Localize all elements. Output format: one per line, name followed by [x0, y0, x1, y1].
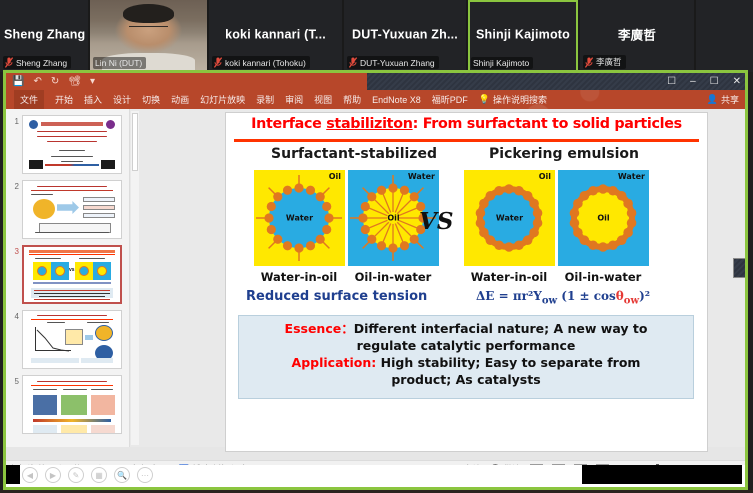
thumbnail-number: 5	[9, 375, 19, 386]
video-tile-4[interactable]: DUT-Yuxuan Zh...DUT-Yuxuan Zhang	[344, 0, 466, 72]
panel-outer-phase-label: Water	[408, 172, 435, 181]
reduced-tension-label: Reduced surface tension	[246, 289, 427, 304]
ribbon-tab-3[interactable]: 插入	[84, 93, 102, 106]
floating-toolbar-overlay[interactable]	[733, 258, 748, 278]
panel-outer-phase-label: Water	[618, 172, 645, 181]
ribbon-tab-bar: 文件开始插入设计切换动画幻灯片放映录制审阅视图帮助EndNote X8福昕PDF…	[6, 90, 745, 109]
thumbnail-number: 2	[9, 180, 19, 191]
interfacial-energy-formula: ΔE = πr²Υow (1 ± cosθow)²	[476, 289, 650, 306]
thumbnail-row-1[interactable]: 1	[6, 113, 129, 178]
video-tile-5[interactable]: Shinji KajimotoShinji Kajimoto	[468, 0, 578, 72]
formula-mid: (1 ± cos	[557, 289, 616, 303]
participant-name-badge: Shinji Kajimoto	[471, 57, 533, 69]
lightbulb-icon: 💡	[479, 94, 490, 105]
formula-gamma: Υow	[533, 289, 557, 303]
participant-name-label: Shinji Kajimoto	[473, 58, 529, 68]
ribbon-tab-12[interactable]: EndNote X8	[372, 95, 421, 105]
powerpoint-window: 💾 ↶ ↻ 📽 ▾ ☐ – ☐ ✕ 文件开始插入设计切换动画幻灯片放映录制审阅视…	[3, 70, 748, 480]
participant-name-label: Sheng Zhang	[16, 58, 67, 68]
current-slide[interactable]: Interface stabiliziton: From surfactant …	[226, 113, 707, 451]
essence-application-box: Essence：Different interfacial nature; A …	[238, 315, 694, 399]
mic-muted-icon	[349, 57, 357, 68]
thumbnail-row-5[interactable]: 5	[6, 373, 129, 438]
scrollbar-thumb[interactable]	[132, 113, 138, 171]
panel-outer-phase-label: Oil	[539, 172, 551, 181]
customize-icon[interactable]: ▾	[90, 77, 95, 87]
thumbnail-row-2[interactable]: 2	[6, 178, 129, 243]
slide-thumbnail-5[interactable]	[22, 375, 122, 434]
mic-muted-icon	[585, 57, 593, 68]
emulsion-sublabel-4: Oil-in-water	[553, 270, 653, 284]
present-icon[interactable]: 📽	[68, 77, 81, 87]
emulsion-sublabel-2: Oil-in-water	[343, 270, 443, 284]
essence-text-1: Different interfacial nature; A new way …	[354, 321, 648, 336]
bottom-right-black-panel	[582, 465, 742, 484]
share-button[interactable]: 👤 共享	[707, 93, 739, 106]
video-tile-1[interactable]: Sheng ZhangSheng Zhang	[0, 0, 88, 72]
share-label: 共享	[721, 93, 739, 106]
quick-access-toolbar: 💾 ↶ ↻ 📽 ▾ ☐ – ☐ ✕	[6, 73, 745, 90]
ribbon-tab-13[interactable]: 福昕PDF	[432, 93, 468, 106]
participant-display-name: Shinji Kajimoto	[468, 28, 578, 42]
slide-editing-pane: Interface stabiliziton: From surfactant …	[130, 109, 745, 447]
thumbnail-row-3[interactable]: 3vs	[6, 243, 129, 308]
share-person-icon: 👤	[707, 94, 718, 105]
ribbon-tab-6[interactable]: 动画	[171, 93, 189, 106]
essence-line-1: Essence：Different interfacial nature; A …	[247, 320, 685, 337]
undo-icon[interactable]: ↶	[33, 77, 41, 87]
ribbon-tab-5[interactable]: 切换	[142, 93, 160, 106]
formula-lhs: ΔE = πr²	[476, 289, 533, 303]
zoom-video-strip: Sheng ZhangSheng ZhangLin Ni (DUT)koki k…	[0, 0, 753, 72]
tell-me-search[interactable]: 💡操作说明搜索	[479, 93, 547, 106]
restore-icon[interactable]: ☐	[710, 76, 719, 87]
ribbon-tab-2[interactable]: 开始	[55, 93, 73, 106]
participant-display-name: DUT-Yuxuan Zh...	[344, 28, 466, 42]
panel-inner-phase-label: Oil	[558, 214, 649, 223]
panel-inner-phase-label: Water	[464, 214, 555, 223]
pen-icon[interactable]: ✎	[68, 467, 84, 483]
emulsion-panel-pick-oil-in-water: WaterOil	[558, 170, 649, 266]
essence-label: Essence：	[285, 321, 354, 336]
slide-thumbnail-pane[interactable]: 123vs45	[6, 109, 130, 447]
ribbon-tab-11[interactable]: 帮助	[343, 93, 361, 106]
emulsion-sublabel-3: Water-in-oil	[459, 270, 559, 284]
emulsion-sublabel-1: Water-in-oil	[249, 270, 349, 284]
thumbnail-row-4[interactable]: 4	[6, 308, 129, 373]
ribbon-tab-9[interactable]: 审阅	[285, 93, 303, 106]
minimize-icon[interactable]: –	[690, 76, 696, 87]
emulsion-panel-surf-oil-in-water: WaterOil	[348, 170, 439, 266]
participant-name-label: Lin Ni (DUT)	[95, 58, 142, 68]
participant-display-name: Sheng Zhang	[0, 28, 88, 42]
participant-display-name: 李廣哲	[580, 25, 694, 44]
save-icon[interactable]: 💾	[12, 77, 24, 87]
essence-line-2: regulate catalytic performance	[247, 337, 685, 354]
title-divider	[234, 139, 699, 142]
prev-slide-icon[interactable]: ◀	[22, 467, 38, 483]
slide-thumbnail-1[interactable]	[22, 115, 122, 174]
left-black-edge	[6, 465, 20, 484]
slide-thumbnail-2[interactable]	[22, 180, 122, 239]
participant-name-badge: DUT-Yuxuan Zhang	[347, 56, 439, 69]
column-heading-pickering: Pickering emulsion	[464, 146, 664, 162]
participant-name-badge: Sheng Zhang	[3, 56, 71, 69]
more-options-icon[interactable]: ⋯	[137, 467, 153, 483]
participant-display-name: koki kannari (T...	[209, 28, 342, 42]
ribbon-tab-10[interactable]: 视图	[314, 93, 332, 106]
panel-outer-phase-label: Oil	[329, 172, 341, 181]
magnify-icon[interactable]: 🔍	[114, 467, 130, 483]
panel-inner-phase-label: Water	[254, 214, 345, 223]
application-label: Application:	[292, 355, 377, 370]
ribbon-tab-4[interactable]: 设计	[113, 93, 131, 106]
participant-name-badge: Lin Ni (DUT)	[93, 57, 146, 69]
ribbon-tab-1[interactable]: 文件	[14, 90, 44, 109]
video-tile-7[interactable]	[696, 0, 753, 72]
thumbnail-number: 1	[9, 115, 19, 126]
screen-root: Sheng ZhangSheng ZhangLin Ni (DUT)koki k…	[0, 0, 753, 493]
redo-icon[interactable]: ↻	[51, 77, 59, 87]
next-slide-icon[interactable]: ▶	[45, 467, 61, 483]
application-line-2: product; As catalysts	[247, 371, 685, 388]
ppt-body: 123vs45 Interface stabiliziton: From sur…	[6, 109, 745, 447]
mic-muted-icon	[5, 57, 13, 68]
presentation-controls: ◀ ▶ ✎ ▦ 🔍 ⋯	[22, 467, 153, 483]
application-text-1: High stability; Easy to separate from	[381, 355, 641, 370]
participant-name-label: DUT-Yuxuan Zhang	[360, 58, 435, 68]
vertical-scrollbar[interactable]	[131, 111, 139, 445]
window-controls: ☐ – ☐ ✕	[667, 73, 741, 90]
ribbon-display-icon[interactable]: ☐	[667, 76, 676, 87]
ribbon-tab-7[interactable]: 幻灯片放映	[200, 93, 245, 106]
ribbon-tab-8[interactable]: 录制	[256, 93, 274, 106]
participant-name-label: 李廣哲	[596, 56, 622, 68]
presenter-control-band: ◀ ▶ ✎ ▦ 🔍 ⋯	[3, 465, 748, 490]
emulsion-panel-pick-water-in-oil: OilWater	[464, 170, 555, 266]
video-tile-3[interactable]: koki kannari (T...koki kannari (Tohoku)	[209, 0, 342, 72]
panel-inner-phase-label: Oil	[348, 214, 439, 223]
column-heading-surfactant: Surfactant-stabilized	[254, 146, 454, 162]
formula-rhs: )²	[639, 289, 650, 303]
close-icon[interactable]: ✕	[733, 76, 741, 87]
tell-me-label: 操作说明搜索	[493, 93, 547, 106]
application-line-1: Application: High stability; Easy to sep…	[247, 354, 685, 371]
thumbnail-number: 3	[9, 245, 19, 256]
participant-name-badge: 李廣哲	[583, 55, 626, 69]
video-tile-2[interactable]: Lin Ni (DUT)	[90, 0, 207, 72]
mic-muted-icon	[214, 57, 222, 68]
thumbnail-number: 4	[9, 310, 19, 321]
participant-name-badge: koki kannari (Tohoku)	[212, 56, 310, 69]
video-tile-6[interactable]: 李廣哲李廣哲	[580, 0, 694, 72]
slide-thumbnail-4[interactable]	[22, 310, 122, 369]
formula-theta: θow	[616, 289, 639, 303]
participant-name-label: koki kannari (Tohoku)	[225, 58, 306, 68]
slide-title: Interface stabiliziton: From surfactant …	[236, 116, 697, 132]
slide-thumbnail-3[interactable]: vs	[22, 245, 122, 304]
emulsion-panel-surf-water-in-oil: OilWater	[254, 170, 345, 266]
all-slides-icon[interactable]: ▦	[91, 467, 107, 483]
